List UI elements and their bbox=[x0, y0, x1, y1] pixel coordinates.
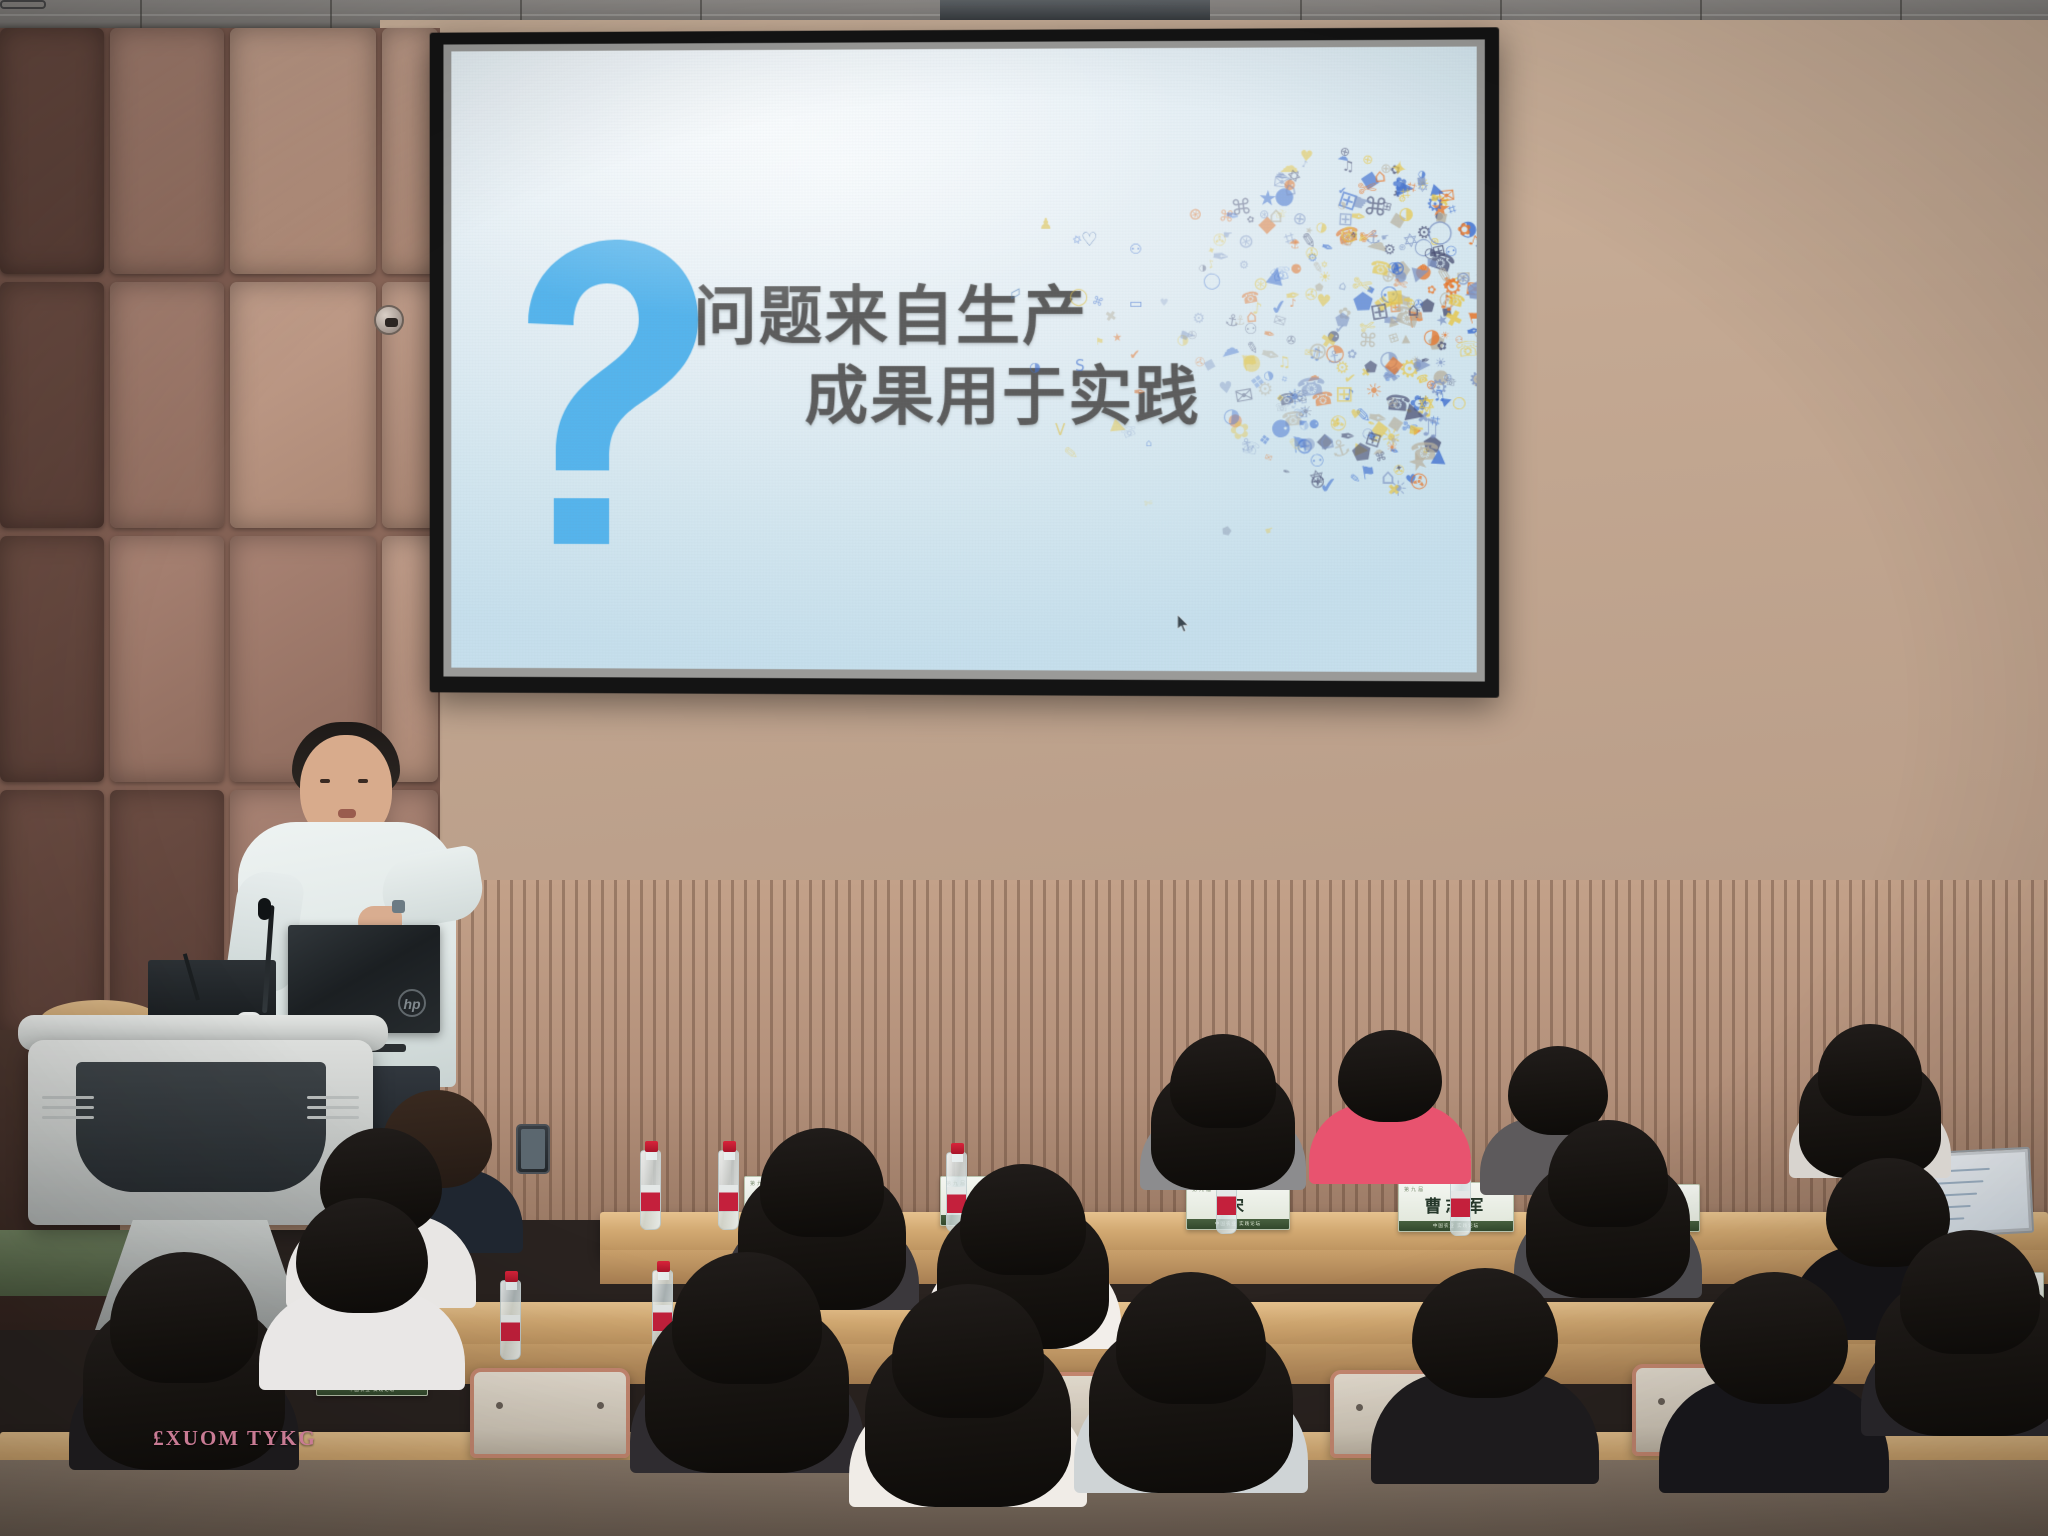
wall-slat bbox=[1095, 880, 1098, 1220]
wall-slat bbox=[1121, 880, 1124, 1220]
cloud-icon: ⌗ bbox=[1280, 374, 1288, 385]
water-bottle bbox=[718, 1150, 739, 1230]
cloud-icon: ◑ bbox=[1029, 361, 1040, 374]
cloud-icon: ■ bbox=[1386, 288, 1405, 308]
wall-slat bbox=[679, 880, 682, 1220]
audience-head bbox=[1900, 1230, 2040, 1354]
audience-head bbox=[892, 1284, 1044, 1418]
cloud-icon: ☎ bbox=[1368, 258, 1394, 280]
eyeglasses-icon bbox=[0, 0, 46, 9]
audience-head bbox=[760, 1128, 884, 1237]
bottle-label bbox=[1217, 1189, 1236, 1215]
cloud-icon: ✎ bbox=[1286, 436, 1304, 456]
wall-pad bbox=[0, 536, 104, 782]
cloud-icon: ♥ bbox=[1218, 379, 1235, 397]
wall-slat bbox=[900, 880, 903, 1220]
cloud-icon: ⚇ bbox=[1243, 321, 1259, 338]
cloud-icon: ⌂ bbox=[1408, 301, 1420, 319]
cloud-icon: ◑ bbox=[1222, 404, 1241, 426]
cloud-icon: ⬟ bbox=[1221, 525, 1233, 538]
cloud-icon: ☏ bbox=[1119, 424, 1139, 442]
wall-slat bbox=[1108, 880, 1111, 1220]
cloud-icon: ✒ bbox=[1281, 468, 1291, 479]
cloud-icon: ▭ bbox=[1129, 297, 1142, 311]
cloud-icon: S bbox=[1075, 359, 1085, 374]
wall-slat bbox=[575, 880, 578, 1220]
podium-vent bbox=[42, 1116, 94, 1119]
cloud-icon: ☏ bbox=[1472, 267, 1477, 296]
cloud-icon: ✇ bbox=[1387, 397, 1399, 411]
cloud-icon: ☀ bbox=[1364, 381, 1385, 403]
audience-member bbox=[1170, 1034, 1276, 1164]
bottle-neck bbox=[646, 1151, 657, 1160]
cloud-icon: ☛ bbox=[1406, 421, 1425, 442]
cloud-icon: ☎ bbox=[1240, 289, 1261, 307]
bottle-cap bbox=[723, 1141, 736, 1152]
audience-head bbox=[1548, 1120, 1668, 1227]
podium-vent bbox=[307, 1116, 359, 1119]
water-bottle bbox=[640, 1150, 661, 1230]
cloud-icon: ✒ bbox=[1319, 239, 1336, 257]
audience-member bbox=[892, 1284, 1044, 1470]
cloud-icon: ☛ bbox=[1176, 327, 1196, 348]
projected-slide: 问题来自生产 成果用于实践 ♟♡⚇▱◯▭◑S✒V✄⊛✎❖⚑▶⌗☏⊞✒●●♪✎▲✉… bbox=[451, 47, 1476, 673]
wall-slat bbox=[692, 880, 695, 1220]
cloud-icon: ✇ bbox=[1305, 246, 1319, 262]
bottle-neck bbox=[658, 1271, 669, 1280]
cloud-icon: ☛ bbox=[1264, 526, 1276, 538]
wall-pad bbox=[230, 282, 376, 528]
ceiling-panel-line bbox=[140, 0, 142, 30]
bottle-cap bbox=[951, 1143, 964, 1154]
wall-slat bbox=[497, 880, 500, 1220]
cloud-icon: ⬟ bbox=[1364, 360, 1378, 376]
cloud-icon: ♡ bbox=[1081, 231, 1098, 250]
wall-slat bbox=[939, 880, 942, 1220]
bottle-label bbox=[1451, 1191, 1470, 1217]
chair-bolt bbox=[1356, 1404, 1363, 1411]
cloud-icon: ▲ bbox=[1431, 446, 1447, 466]
cloud-icon: ♥ bbox=[1315, 293, 1332, 312]
audience-head bbox=[672, 1252, 822, 1384]
wall-slat bbox=[614, 880, 617, 1220]
cloud-icon: ⬟ bbox=[1353, 291, 1374, 315]
audience-member bbox=[296, 1198, 428, 1358]
bottle-label bbox=[501, 1315, 520, 1341]
cloud-icon: ◑ bbox=[1300, 419, 1310, 430]
chair-bolt bbox=[597, 1402, 604, 1409]
cloud-icon: ◯ bbox=[1069, 289, 1088, 306]
cloud-icon: ◯ bbox=[1201, 271, 1222, 290]
cloud-icon: ☛ bbox=[1381, 234, 1391, 244]
cloud-icon: V bbox=[1055, 423, 1065, 438]
wall-slat bbox=[562, 880, 565, 1220]
cloud-icon: ✖ bbox=[1387, 483, 1400, 498]
bottle-cap bbox=[657, 1261, 670, 1272]
wall-pad bbox=[110, 282, 224, 528]
cloud-icon: ✔ bbox=[1338, 187, 1347, 197]
cloud-icon: ⚙ bbox=[1467, 368, 1477, 391]
wall-slat bbox=[705, 880, 708, 1220]
audience-member bbox=[1900, 1230, 2040, 1402]
cloud-icon: ✄ bbox=[1144, 499, 1154, 510]
podium-vent bbox=[42, 1096, 94, 1099]
wall-slat bbox=[744, 880, 747, 1220]
cloud-icon: ✎ bbox=[1063, 445, 1079, 464]
podium-inset bbox=[76, 1062, 326, 1192]
cloud-icon: ⊛ bbox=[1442, 371, 1453, 384]
audience-head bbox=[110, 1252, 258, 1383]
bottle-cap bbox=[645, 1141, 658, 1152]
wall-pad bbox=[0, 282, 104, 528]
cloud-icon: ⌂ bbox=[1338, 279, 1348, 292]
wall-slat bbox=[666, 880, 669, 1220]
wall-slat bbox=[1693, 880, 1696, 1220]
cloud-icon: ▲ bbox=[1401, 333, 1410, 344]
audience-head bbox=[1700, 1272, 1848, 1404]
bottle-label bbox=[719, 1185, 738, 1211]
cloud-icon: ✦ bbox=[1395, 464, 1404, 474]
cloud-icon: ✉ bbox=[1263, 453, 1273, 464]
wall-slat bbox=[1732, 880, 1735, 1220]
cloud-icon: ✒ bbox=[1420, 354, 1431, 367]
audience-head bbox=[1412, 1268, 1558, 1398]
cloud-icon: ⚑ bbox=[1095, 338, 1104, 348]
cloud-icon: ⬟ bbox=[1314, 283, 1324, 294]
cloud-icon: ◆ bbox=[1383, 351, 1404, 377]
wall-slat bbox=[510, 880, 513, 1220]
cloud-icon: ⊞ bbox=[1335, 384, 1354, 406]
wall-slat bbox=[1771, 880, 1774, 1220]
cloud-icon: ♥ bbox=[1349, 408, 1361, 421]
wall-slat bbox=[1758, 880, 1761, 1220]
wall-pad bbox=[0, 790, 104, 1036]
wall-pad bbox=[110, 536, 224, 782]
jacket-print-text: £XUOM TYKG bbox=[120, 1426, 350, 1451]
wall-slat bbox=[1680, 880, 1683, 1220]
cloud-icon: ✒ bbox=[1284, 287, 1302, 307]
cloud-icon: ⚙ bbox=[1257, 381, 1274, 400]
icon-cloud-head: ♟♡⚇▱◯▭◑S✒V✄⊛✎❖⚑▶⌗☏⊞✒●●♪✎▲✉✿♪✦⬟⚙⚈◑■⊕☁✖⊕⚓◆… bbox=[1007, 137, 1477, 591]
wall-slat bbox=[1719, 880, 1722, 1220]
wall-pad bbox=[0, 28, 104, 274]
cloud-icon: ☏ bbox=[1340, 236, 1355, 248]
nameplate-name: 宋 bbox=[1187, 1192, 1289, 1216]
cloud-icon: ♥ bbox=[1299, 148, 1314, 164]
cloud-icon: ⚓ bbox=[1326, 349, 1344, 368]
audience-head bbox=[1170, 1034, 1276, 1128]
mouse-cursor-icon bbox=[1178, 615, 1190, 633]
cloud-icon: ⚇ bbox=[1129, 243, 1142, 257]
podium-vent bbox=[307, 1096, 359, 1099]
cloud-icon: ♫ bbox=[1342, 160, 1355, 174]
chair-bolt bbox=[1658, 1398, 1665, 1405]
audience-member bbox=[1700, 1272, 1848, 1456]
ceiling-panel-line bbox=[330, 0, 332, 30]
cloud-icon: ♫ bbox=[1431, 387, 1448, 405]
wall-slat bbox=[2031, 880, 2034, 1220]
cloud-icon: ⚙ bbox=[1239, 259, 1250, 271]
cloud-icon: ▱ bbox=[1006, 283, 1024, 303]
bottle-cap bbox=[505, 1271, 518, 1282]
wall-slat bbox=[1784, 880, 1787, 1220]
wall-slat bbox=[887, 880, 890, 1220]
cloud-icon: ♟ bbox=[1039, 217, 1052, 232]
projection-screen-bezel: 问题来自生产 成果用于实践 ♟♡⚇▱◯▭◑S✒V✄⊛✎❖⚑▶⌗☏⊞✒●●♪✎▲✉… bbox=[443, 39, 1484, 681]
wall-pad bbox=[110, 28, 224, 274]
wall-slat bbox=[926, 880, 929, 1220]
bottle-label bbox=[641, 1185, 660, 1211]
wall-slat bbox=[1706, 880, 1709, 1220]
water-bottle bbox=[500, 1280, 521, 1360]
cloud-icon: ☏ bbox=[1239, 439, 1262, 459]
cloud-icon: ✇ bbox=[1286, 334, 1296, 346]
phone-screen bbox=[521, 1129, 545, 1169]
wall-slat bbox=[1745, 880, 1748, 1220]
audience-member bbox=[1818, 1024, 1922, 1152]
cloud-icon: ✖ bbox=[1104, 309, 1118, 325]
audience-member bbox=[1116, 1272, 1266, 1456]
cloud-icon: ★ bbox=[1112, 332, 1122, 344]
wall-slat bbox=[1134, 880, 1137, 1220]
cloud-icon: ♥ bbox=[1159, 299, 1168, 309]
podium-vent bbox=[307, 1106, 359, 1109]
audience-head bbox=[960, 1164, 1086, 1275]
microphone-head-icon bbox=[258, 898, 271, 920]
wall-slat bbox=[1472, 880, 1475, 1220]
wall-slat bbox=[913, 880, 916, 1220]
cloud-icon: ⚑ bbox=[1359, 463, 1378, 484]
cloud-icon: ⊕ bbox=[1361, 153, 1374, 168]
wall-slat bbox=[588, 880, 591, 1220]
cloud-icon: ✡ bbox=[1321, 261, 1329, 270]
bottle-neck bbox=[506, 1281, 517, 1290]
audience-head bbox=[1818, 1024, 1922, 1116]
cloud-icon: ⌘ bbox=[1230, 196, 1254, 220]
cloud-icon: ◑ bbox=[1199, 265, 1207, 274]
audience-head bbox=[296, 1198, 428, 1313]
smartphone[interactable] bbox=[516, 1124, 550, 1174]
cloud-icon: ⬟ bbox=[1335, 313, 1350, 330]
cloud-icon: ⚓ bbox=[1290, 241, 1300, 252]
cloud-icon: ✔ bbox=[1129, 349, 1141, 363]
wall-slat bbox=[627, 880, 630, 1220]
wall-speaker-knob bbox=[374, 305, 404, 335]
wall-pad bbox=[230, 28, 376, 274]
cloud-icon: ⚈ bbox=[1290, 263, 1302, 276]
audience-member bbox=[1412, 1268, 1558, 1448]
wall-slat bbox=[601, 880, 604, 1220]
cloud-icon: ⌂ bbox=[1145, 439, 1151, 449]
audience-member bbox=[1338, 1030, 1442, 1158]
bottle-neck bbox=[724, 1151, 735, 1160]
cloud-icon: ☏ bbox=[1275, 402, 1289, 413]
cloud-icon: ◑ bbox=[1417, 170, 1426, 180]
bottle-neck bbox=[952, 1153, 963, 1162]
cloud-icon: ⊛ bbox=[1236, 231, 1256, 253]
question-mark-icon bbox=[493, 228, 705, 547]
lecture-hall-photo: 问题来自生产 成果用于实践 ♟♡⚇▱◯▭◑S✒V✄⊛✎❖⚑▶⌗☏⊞✒●●♪✎▲✉… bbox=[0, 0, 2048, 1536]
hp-logo-icon: hp bbox=[398, 989, 426, 1017]
cloud-icon: ⬟ bbox=[1351, 441, 1373, 466]
cloud-icon: ⚓ bbox=[1223, 312, 1240, 331]
cloud-icon: ⊛ bbox=[1259, 208, 1269, 220]
cloud-icon: ✇ bbox=[1328, 412, 1348, 434]
cloud-icon: ✒ bbox=[1133, 385, 1146, 400]
cloud-icon: ◑ bbox=[1315, 220, 1329, 235]
chair-bolt bbox=[496, 1402, 503, 1409]
cloud-icon: ⚙ bbox=[1192, 311, 1207, 327]
cloud-icon: ⌘ bbox=[1091, 294, 1105, 308]
cloud-icon: ✡ bbox=[1416, 180, 1430, 196]
cloud-icon: ☛ bbox=[1429, 191, 1444, 207]
audience-head bbox=[1116, 1272, 1266, 1404]
auditorium-chair[interactable] bbox=[470, 1368, 630, 1458]
cloud-icon: ⊛ bbox=[1187, 205, 1204, 224]
audience-member bbox=[110, 1252, 258, 1434]
cloud-icon: ◑ bbox=[1399, 206, 1414, 223]
cloud-icon: ⌂ bbox=[1269, 205, 1283, 227]
cloud-icon: ✉ bbox=[1271, 312, 1287, 330]
audience-member bbox=[672, 1252, 822, 1436]
audience-head bbox=[1338, 1030, 1442, 1122]
cloud-icon: ✡ bbox=[1286, 168, 1304, 188]
projection-screen-frame: 问题来自生产 成果用于实践 ♟♡⚇▱◯▭◑S✒V✄⊛✎❖⚑▶⌗☏⊞✒●●♪✎▲✉… bbox=[430, 27, 1499, 697]
cloud-icon: ◯ bbox=[1452, 396, 1466, 408]
audience-member bbox=[1548, 1120, 1668, 1268]
nameplate-footer: 中国农业 实践论坛 bbox=[1187, 1219, 1289, 1229]
presenter-shirt-badge bbox=[392, 900, 405, 913]
podium-vent bbox=[42, 1106, 94, 1109]
wall-slat bbox=[2044, 880, 2047, 1220]
